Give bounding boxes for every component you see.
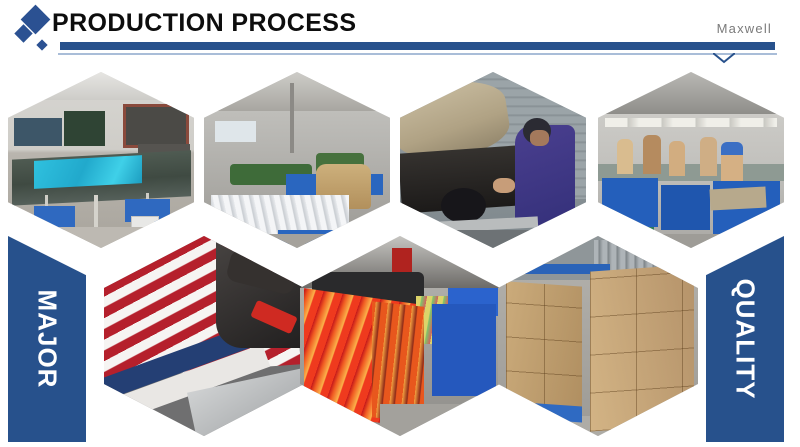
photo-window xyxy=(123,104,189,149)
photo-blue-crate xyxy=(661,185,709,231)
photo-worker xyxy=(643,135,662,174)
photo-floor xyxy=(380,404,500,436)
brand-name: Maxwell xyxy=(717,21,772,36)
title-rule-thick xyxy=(60,42,775,50)
photo-column xyxy=(290,83,294,153)
photo-cardboard-sheet xyxy=(709,187,766,211)
photo-window xyxy=(215,121,256,142)
photo-bg-shelf xyxy=(14,118,62,146)
photo-blue-crate xyxy=(432,304,496,396)
photo-floor xyxy=(8,227,194,248)
photo-blue-crate xyxy=(602,178,658,227)
photo-bg-machine xyxy=(64,111,105,146)
page-title: PRODUCTION PROCESS xyxy=(52,7,356,39)
photo-ceiling xyxy=(8,72,194,100)
slide-header: PRODUCTION PROCESS Maxwell xyxy=(0,0,800,70)
banner-major-label: MAJOR xyxy=(32,290,63,389)
photo-teal-fabric xyxy=(34,155,142,189)
photo-worker xyxy=(669,141,686,176)
gallery-photo-carton-pallets[interactable] xyxy=(498,236,698,436)
title-rule-thin xyxy=(58,53,777,55)
production-process-slide: PRODUCTION PROCESS Maxwell xyxy=(0,0,800,447)
chevron-down-icon xyxy=(713,53,735,64)
photo-floor xyxy=(598,234,784,248)
photo-carton-stack xyxy=(506,281,582,410)
banner-quality-label: QUALITY xyxy=(730,278,761,399)
gallery-photo-warehouse-rolls[interactable] xyxy=(204,72,390,248)
photo-worker-cap xyxy=(721,142,743,154)
photo-worker-face xyxy=(530,130,549,146)
photo-green-tray xyxy=(613,227,654,241)
diamond-small-icon xyxy=(36,39,47,50)
photo-worker xyxy=(617,139,634,174)
banner-major: MAJOR xyxy=(8,236,86,442)
photo-carton-stack xyxy=(590,264,694,431)
gallery-photo-folded-orange-fabric[interactable] xyxy=(300,236,500,436)
banner-quality: QUALITY xyxy=(706,236,784,442)
photo-worker-hand xyxy=(493,178,515,194)
gallery-photo-striped-fabric-sewing[interactable] xyxy=(104,236,304,436)
photo-ceiling xyxy=(204,72,390,111)
photo-machine-drum xyxy=(441,188,486,223)
gallery-photo-assembly-line[interactable] xyxy=(598,72,784,248)
photo-floor xyxy=(400,230,586,248)
photo-ceiling xyxy=(598,72,784,114)
photo-light-row xyxy=(605,118,776,127)
photo-floor xyxy=(204,234,390,248)
photo-worker xyxy=(700,137,717,176)
gallery-photo-cutting-table[interactable] xyxy=(8,72,194,248)
gallery-photo-roller-machine[interactable] xyxy=(400,72,586,248)
